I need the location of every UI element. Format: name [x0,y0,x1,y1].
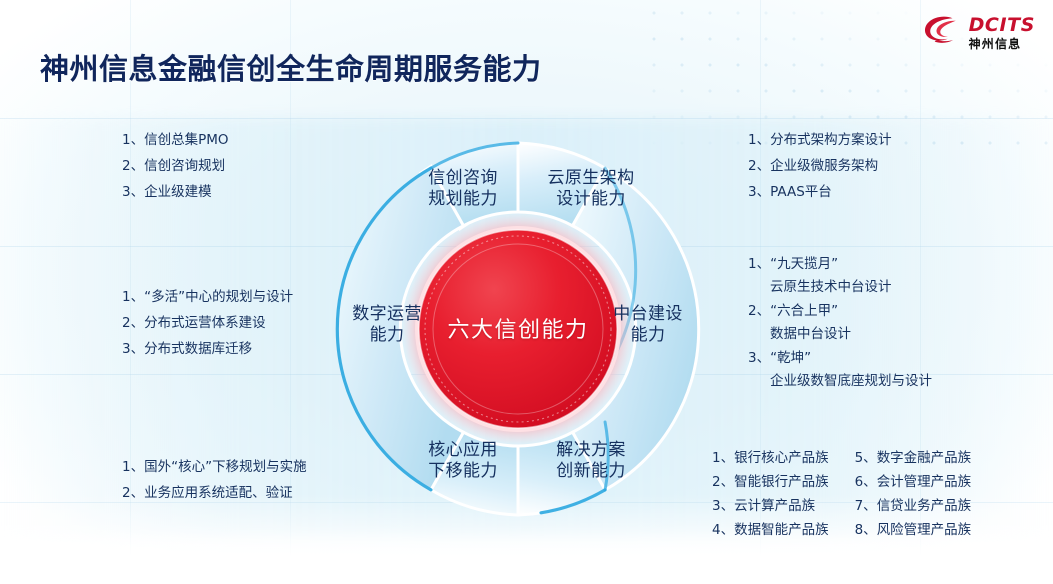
dcits-swirl-icon [922,14,962,52]
background-streak [0,118,1053,119]
segment-label-solution: 解决方案 创新能力 [525,440,657,481]
list-item-sub: 云原生技术中台设计 [748,276,932,299]
segment-label-cloud-native: 云原生架构 设计能力 [525,168,657,209]
callout-products: 1、银行核心产品族 2、智能银行产品族 3、云计算产品族 4、数据智能产品族 5… [712,446,971,542]
list-item: 5、数字金融产品族 [855,450,972,466]
list-item: 1、“多活”中心的规划与设计 [122,285,293,311]
segment-label-digital-ops: 数字运营 能力 [327,304,447,345]
list-item-sub: 企业级数智底座规划与设计 [748,370,932,393]
list-item: 1、国外“核心”下移规划与实施 [122,455,307,481]
list-item: 2、业务应用系统适配、验证 [122,481,307,507]
products-column-left: 1、银行核心产品族 2、智能银行产品族 3、云计算产品族 4、数据智能产品族 [712,446,829,542]
list-item: 7、信贷业务产品族 [855,498,972,514]
list-item: 2、分布式运营体系建设 [122,311,293,337]
segment-label-midplatform: 中台建设 能力 [588,304,708,345]
list-item: 1、分布式架构方案设计 [748,128,892,154]
list-item: 3、云计算产品族 [712,498,815,514]
products-column-right: 5、数字金融产品族 6、会计管理产品族 7、信贷业务产品族 8、风险管理产品族 [855,446,972,542]
list-item: 1、银行核心产品族 [712,450,829,466]
list-item: 4、数据智能产品族 [712,522,829,538]
list-item: 2、“六合上甲” [748,300,932,323]
list-item: 2、信创咨询规划 [122,154,229,180]
list-item: 3、“乾坤” [748,347,932,370]
list-item: 3、PAAS平台 [748,180,892,206]
list-item: 1、信创总集PMO [122,128,229,154]
list-item-sub: 数据中台设计 [748,323,932,346]
callout-consulting: 1、信创总集PMO 2、信创咨询规划 3、企业级建模 [122,128,229,206]
segment-label-consulting: 信创咨询 规划能力 [397,168,529,209]
list-item: 8、风险管理产品族 [855,522,972,538]
callout-digital-ops: 1、“多活”中心的规划与设计 2、分布式运营体系建设 3、分布式数据库迁移 [122,285,293,363]
brand-wordmark: DCITS 神州信息 [969,16,1035,50]
page-title: 神州信息金融信创全生命周期服务能力 [40,46,542,88]
list-item: 2、企业级微服务架构 [748,154,892,180]
list-item: 6、会计管理产品族 [855,474,972,490]
brand-name-en: DCITS [969,16,1035,35]
brand-logo: DCITS 神州信息 [922,14,1035,52]
callout-cloud-native: 1、分布式架构方案设计 2、企业级微服务架构 3、PAAS平台 [748,128,892,206]
callout-midplatform: 1、“九天揽月” 云原生技术中台设计 2、“六合上甲” 数据中台设计 3、“乾坤… [748,253,932,394]
brand-name-cn: 神州信息 [969,38,1035,50]
list-item: 3、分布式数据库迁移 [122,337,293,363]
list-item: 2、智能银行产品族 [712,474,829,490]
list-item: 1、“九天揽月” [748,253,932,276]
callout-core-app: 1、国外“核心”下移规划与实施 2、业务应用系统适配、验证 [122,455,307,507]
capability-wheel: 六大信创能力 信创咨询 规划能力 云原生架构 设计能力 中台建设 能力 解决方案… [311,122,725,536]
segment-label-core-app: 核心应用 下移能力 [397,440,529,481]
list-item: 3、企业级建模 [122,180,229,206]
